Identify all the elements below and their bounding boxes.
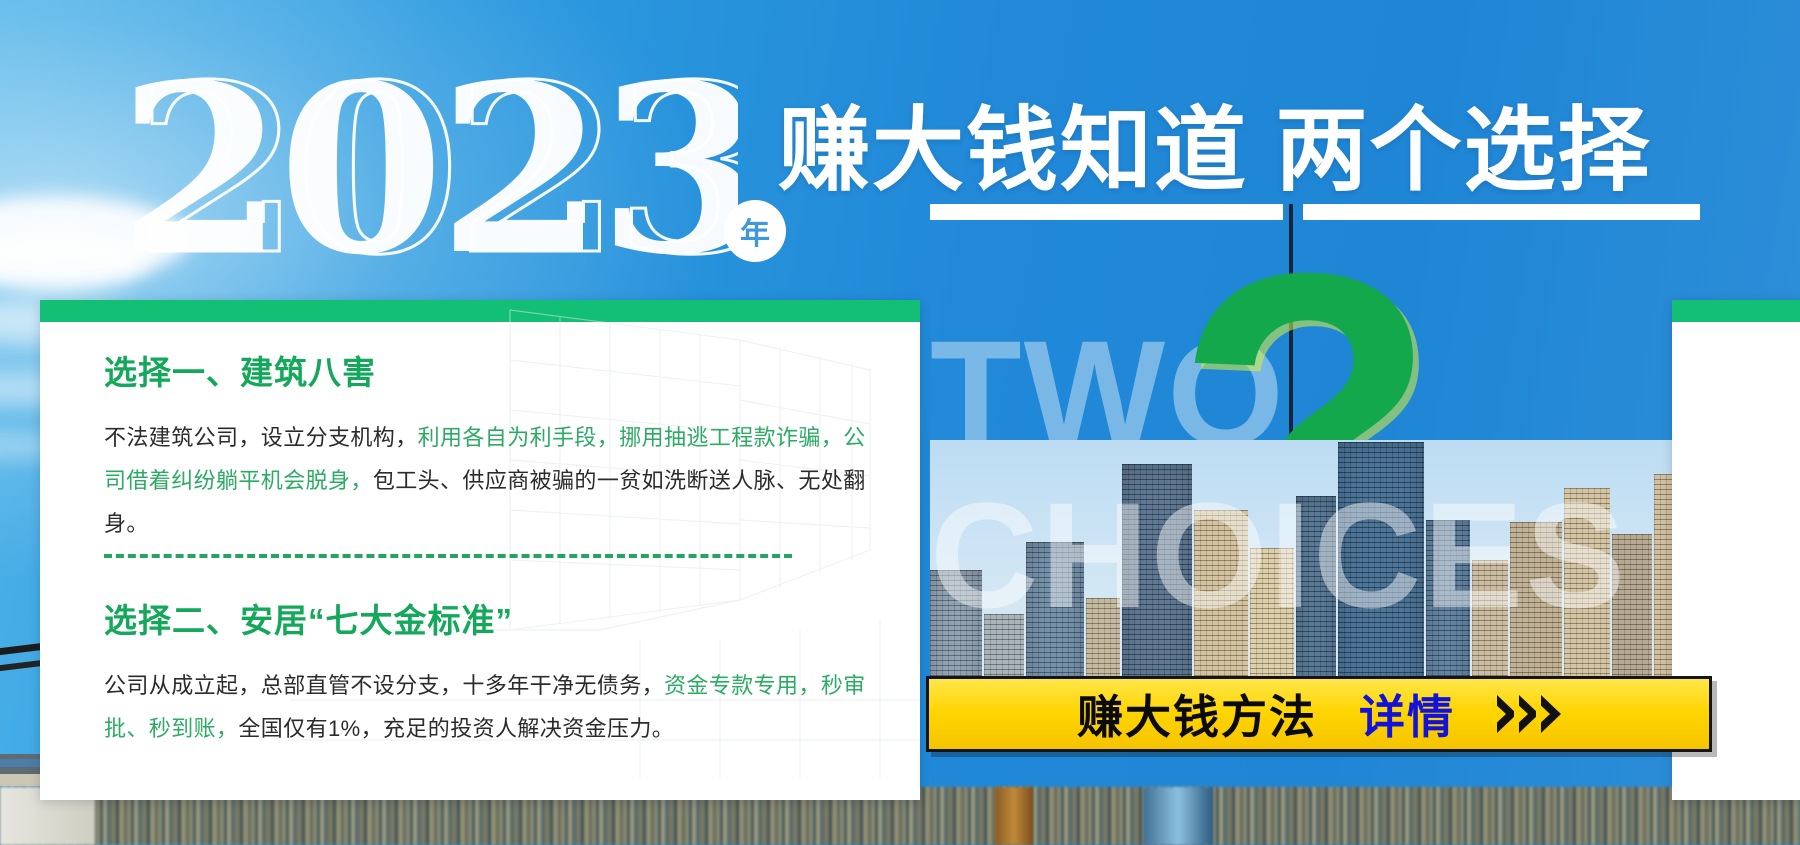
banner-root: 2023 2023 年 赚大钱知道 两个选择 TWO ? CHOICES bbox=[0, 0, 1800, 845]
section-divider bbox=[104, 554, 792, 558]
year-unit-badge: 年 bbox=[724, 200, 786, 262]
section-two-title: 选择二、安居“七大金标准” bbox=[104, 594, 880, 642]
reflection-accent bbox=[995, 787, 1033, 845]
content-card: 选择一、建筑八害 不法建筑公司，设立分支机构，利用各自为利手段，挪用抽逃工程款诈… bbox=[40, 300, 920, 800]
text-plain: 不法建筑公司，设立分支机构， bbox=[104, 425, 418, 450]
side-card-accent-bar bbox=[1672, 300, 1800, 322]
text-plain: 公司从成立起，总部直管不设分支，十多年干净无债务， bbox=[104, 673, 664, 698]
text-plain: 全国仅有1%，充足的投资人解决资金压力。 bbox=[238, 716, 674, 741]
section-one: 选择一、建筑八害 不法建筑公司，设立分支机构，利用各自为利手段，挪用抽逃工程款诈… bbox=[104, 346, 880, 545]
section-two-text: 公司从成立起，总部直管不设分支，十多年干净无债务，资金专款专用，秒审批、秒到账，… bbox=[104, 664, 880, 750]
section-one-title: 选择一、建筑八害 bbox=[104, 346, 880, 394]
cta-button[interactable]: 赚大钱方法 详情 bbox=[926, 676, 1712, 752]
reflection-accent bbox=[1143, 787, 1213, 845]
chevron-right-icon bbox=[1497, 695, 1561, 733]
cta-action-label: 详情 bbox=[1359, 681, 1455, 747]
year-number: 2023 bbox=[118, 62, 738, 277]
year-decoration: 2023 2023 bbox=[118, 62, 738, 277]
card-accent-bar bbox=[40, 300, 920, 322]
section-two: 选择二、安居“七大金标准” 公司从成立起，总部直管不设分支，十多年干净无债务，资… bbox=[104, 594, 880, 750]
watermark-choices: CHOICES bbox=[930, 480, 1627, 630]
cta-label: 赚大钱方法 bbox=[1077, 681, 1317, 747]
section-one-text: 不法建筑公司，设立分支机构，利用各自为利手段，挪用抽逃工程款诈骗，公司借着纠纷躺… bbox=[104, 416, 880, 545]
